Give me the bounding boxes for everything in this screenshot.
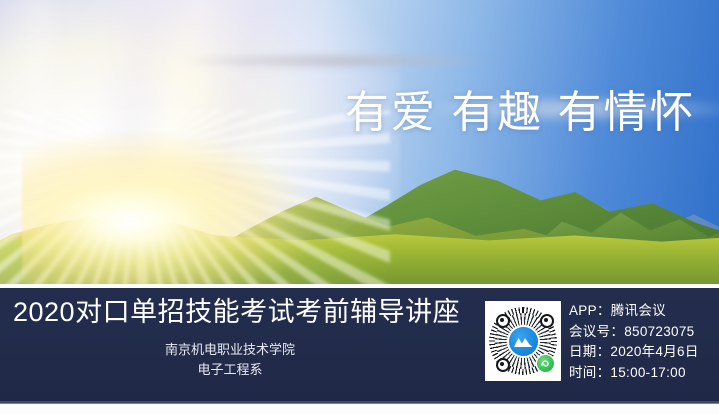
headline-text: 有爱 有趣 有情怀: [345, 88, 695, 139]
meeting-date-line: 日期：2020年4月6日: [569, 342, 699, 363]
organization-name: 南京机电职业技术学院: [0, 340, 460, 360]
meeting-app-line: APP：腾讯会议: [569, 301, 699, 322]
mountain-logo-icon: [509, 327, 538, 356]
qr-code-image: [485, 301, 561, 381]
meeting-info-block: APP：腾讯会议 会议号：850723075 日期：2020年4月6日 时间：1…: [569, 301, 699, 383]
meeting-id-line: 会议号：850723075: [569, 322, 699, 343]
qr-finder-top-right: [540, 314, 554, 328]
page-title: 2020对口单招技能考试考前辅导讲座: [13, 298, 460, 328]
landscape-photo: 有爱 有趣 有情怀: [0, 0, 719, 286]
bottom-white-strip: [0, 404, 719, 414]
qr-finder-bottom-left: [496, 358, 510, 372]
sun-glow: [22, 128, 322, 286]
qr-finder-top-left: [496, 314, 510, 328]
cloud-streak: [180, 52, 500, 70]
department-name: 电子工程系: [0, 360, 460, 380]
qr-code-panel[interactable]: [485, 301, 561, 381]
poster-image: 有爱 有趣 有情怀 2020对口单招技能考试考前辅导讲座 南京机电职业技术学院 …: [0, 0, 719, 414]
wechat-mini-program-icon: [537, 355, 554, 372]
meeting-time-line: 时间：15:00-17:00: [569, 363, 699, 384]
organization-block: 南京机电职业技术学院 电子工程系: [0, 340, 460, 380]
